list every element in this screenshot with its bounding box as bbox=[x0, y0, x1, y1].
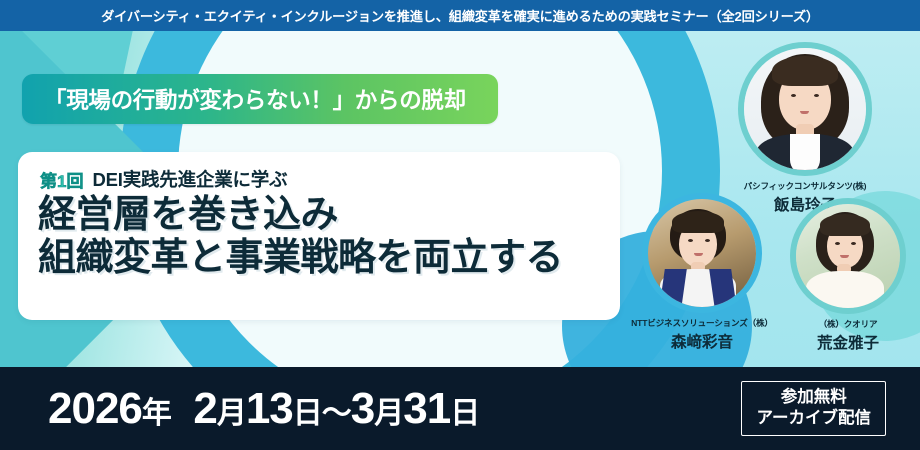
footer-bar: 2026年 2月13日〜3月31日 参加無料 アーカイブ配信 bbox=[0, 367, 920, 450]
speaker-org-3: （株）クオリア bbox=[778, 318, 918, 330]
speaker-card-3: （株）クオリア 荒金雅子 bbox=[778, 198, 918, 353]
date-day-unit-2: 日 bbox=[450, 397, 479, 430]
episode-badge: 第1回 bbox=[40, 167, 83, 192]
speaker-name-2: 森﨑彩音 bbox=[622, 330, 782, 352]
event-date: 2026年 2月13日〜3月31日 bbox=[48, 384, 479, 439]
title-card: 第1回 DEI実践先進企業に学ぶ 経営層を巻き込み 組織変革と事業戦略を両立する bbox=[18, 152, 620, 320]
speaker-photo-1 bbox=[738, 42, 872, 176]
date-range-separator: 〜 bbox=[322, 397, 351, 430]
date-start-day: 13 bbox=[246, 384, 293, 433]
avatar bbox=[744, 48, 866, 170]
date-year-unit: 年 bbox=[142, 397, 171, 430]
date-end-month: 3 bbox=[351, 384, 374, 433]
date-day-unit-1: 日 bbox=[293, 397, 322, 430]
avatar bbox=[648, 199, 756, 307]
speaker-photo-2 bbox=[642, 193, 762, 313]
seminar-tagline: ダイバーシティ・エクイティ・インクルージョンを推進し、組織変革を確実に進めるため… bbox=[101, 6, 819, 25]
speaker-org-1: パシフィックコンサルタンツ(株) bbox=[693, 180, 917, 192]
speaker-org-2: NTTビジネスソリューションズ（株） bbox=[622, 317, 782, 329]
speaker-card-1: パシフィックコンサルタンツ(株) 飯島玲子 bbox=[693, 42, 917, 215]
date-month-unit-1: 月 bbox=[217, 397, 246, 430]
speaker-card-2: NTTビジネスソリューションズ（株） 森﨑彩音 bbox=[622, 193, 782, 352]
free-archive-badge: 参加無料 アーカイブ配信 bbox=[741, 381, 886, 436]
date-end-day: 31 bbox=[403, 384, 450, 433]
headline-line-1: 経営層を巻き込み bbox=[38, 194, 563, 237]
card-headline: 経営層を巻き込み 組織変革と事業戦略を両立する bbox=[38, 194, 563, 280]
date-month-unit-2: 月 bbox=[374, 397, 403, 430]
badge-line-1: 参加無料 bbox=[756, 387, 871, 408]
speaker-name-3: 荒金雅子 bbox=[778, 331, 918, 353]
pain-point-pill: 「現場の行動が変わらない！」からの脱却 bbox=[22, 74, 498, 124]
seminar-banner: ダイバーシティ・エクイティ・インクルージョンを推進し、組織変革を確実に進めるため… bbox=[0, 0, 920, 450]
episode-row: 第1回 DEI実践先進企業に学ぶ bbox=[40, 166, 287, 192]
date-start-month: 2 bbox=[193, 384, 216, 433]
avatar bbox=[796, 204, 900, 308]
headline-line-2: 組織変革と事業戦略を両立する bbox=[38, 237, 563, 280]
card-subtitle: DEI実践先進企業に学ぶ bbox=[92, 166, 287, 192]
speaker-photo-3 bbox=[790, 198, 906, 314]
badge-line-2: アーカイブ配信 bbox=[756, 408, 871, 429]
pain-point-label: 「現場の行動が変わらない！」からの脱却 bbox=[44, 83, 466, 115]
date-year: 2026 bbox=[48, 384, 142, 433]
top-banner-strip: ダイバーシティ・エクイティ・インクルージョンを推進し、組織変革を確実に進めるため… bbox=[0, 0, 920, 31]
